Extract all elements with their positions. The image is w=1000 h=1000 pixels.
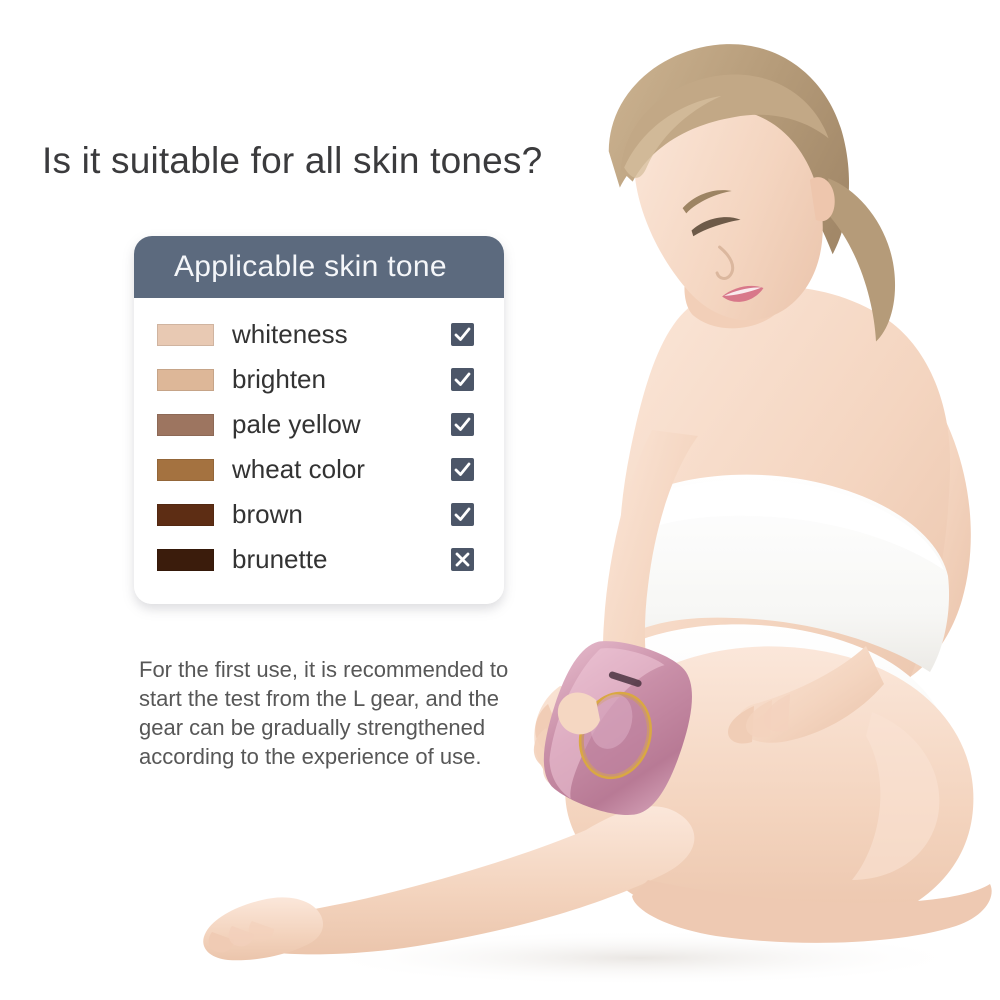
- skin-tone-row-whiteness: whiteness: [134, 312, 504, 357]
- skin-tone-row-brighten: brighten: [134, 357, 504, 402]
- skin-tone-row-brunette: brunette: [134, 537, 504, 582]
- product-infographic: Is it suitable for all skin tones? Appli…: [0, 0, 1000, 1000]
- skin-tone-label: whiteness: [232, 319, 451, 350]
- page-headline: Is it suitable for all skin tones?: [42, 140, 542, 182]
- check-icon: [451, 368, 474, 391]
- applicable-skin-tone-card: Applicable skin tone whiteness brighten …: [134, 236, 504, 604]
- card-header: Applicable skin tone: [134, 236, 504, 298]
- skin-tone-label: wheat color: [232, 454, 451, 485]
- skin-swatch: [157, 549, 214, 571]
- skin-swatch: [157, 324, 214, 346]
- check-icon: [451, 413, 474, 436]
- skin-tone-label: pale yellow: [232, 409, 451, 440]
- check-icon: [451, 323, 474, 346]
- skin-tone-row-pale-yellow: pale yellow: [134, 402, 504, 447]
- skin-tone-label: brighten: [232, 364, 451, 395]
- cross-icon: [451, 548, 474, 571]
- skin-tone-row-brown: brown: [134, 492, 504, 537]
- skin-tone-list: whiteness brighten pale yellow wheat col…: [134, 298, 504, 604]
- skin-swatch: [157, 459, 214, 481]
- skin-tone-label: brown: [232, 499, 451, 530]
- skin-swatch: [157, 504, 214, 526]
- skin-swatch: [157, 414, 214, 436]
- check-icon: [451, 503, 474, 526]
- card-header-title: Applicable skin tone: [174, 250, 447, 284]
- skin-swatch: [157, 369, 214, 391]
- check-icon: [451, 458, 474, 481]
- usage-note: For the first use, it is recommended to …: [139, 655, 539, 771]
- skin-tone-label: brunette: [232, 544, 451, 575]
- skin-tone-row-wheat-color: wheat color: [134, 447, 504, 492]
